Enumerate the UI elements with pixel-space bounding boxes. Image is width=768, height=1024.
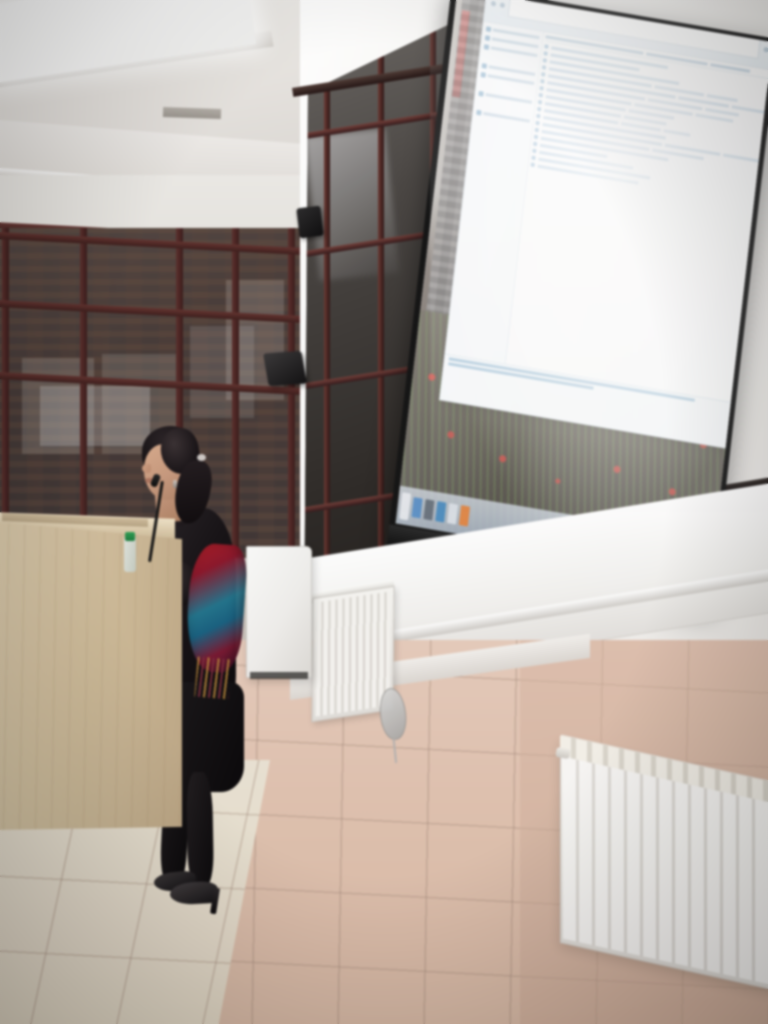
drive-icon	[480, 72, 486, 78]
file-icon	[539, 86, 543, 91]
file-icon	[535, 121, 539, 126]
file-icon	[534, 128, 538, 133]
file-icon	[538, 93, 542, 98]
back-icon[interactable]	[490, 1, 496, 7]
file-icon	[543, 52, 547, 57]
projection-surface	[396, 0, 768, 577]
partition-mullion	[2, 228, 9, 558]
window-reflection	[305, 128, 400, 281]
presenter-leg-right	[186, 772, 214, 886]
file-list[interactable]	[506, 32, 768, 402]
folder-icon	[483, 44, 489, 50]
cabinet-base	[250, 672, 308, 679]
file-icon	[530, 163, 534, 168]
hair-clip-icon	[197, 454, 206, 461]
taskbar-icons	[411, 494, 470, 530]
folder-icon	[485, 27, 491, 33]
folder-icon	[484, 35, 490, 41]
earring-icon	[173, 480, 177, 488]
folder-icon[interactable]	[423, 500, 434, 521]
loudspeaker-icon	[296, 206, 323, 239]
forward-icon[interactable]	[499, 2, 505, 8]
media-icon[interactable]	[435, 502, 446, 523]
file-icon	[540, 79, 544, 84]
ceiling-vent-icon	[163, 107, 221, 119]
wallpaper-sign	[452, 10, 470, 98]
file-icon	[536, 114, 540, 119]
water-bottle	[124, 536, 136, 572]
office-icon[interactable]	[459, 506, 470, 527]
file-icon	[534, 135, 538, 140]
explorer-body	[445, 22, 768, 403]
file-icon	[544, 45, 548, 50]
bottle-cap	[125, 532, 135, 541]
file-icon	[531, 156, 535, 161]
file-icon	[542, 65, 546, 70]
skylight	[0, 0, 256, 83]
loudspeaker-icon	[263, 351, 307, 386]
white-cabinet	[246, 546, 312, 678]
file-icon	[541, 72, 545, 77]
lectern-wood-grain	[0, 512, 182, 830]
presenter-nose	[142, 464, 151, 473]
presenter-shawl-fringe	[194, 657, 231, 700]
drive-icon	[481, 63, 487, 69]
app-icon[interactable]	[447, 504, 458, 525]
network-icon	[478, 91, 484, 97]
file-icon	[537, 107, 541, 112]
network-icon	[476, 110, 482, 116]
file-icon	[533, 142, 537, 147]
browser-icon[interactable]	[411, 498, 422, 519]
start-button[interactable]	[399, 492, 411, 520]
file-icon	[538, 100, 542, 105]
partition-transom	[0, 232, 306, 255]
partition-mullion	[80, 228, 87, 558]
search-icon[interactable]	[763, 47, 768, 53]
lectern	[0, 512, 182, 830]
file-explorer-window[interactable]	[439, 0, 768, 449]
file-icon	[532, 149, 536, 154]
photo-scene	[0, 0, 768, 1024]
file-icon	[542, 58, 546, 63]
